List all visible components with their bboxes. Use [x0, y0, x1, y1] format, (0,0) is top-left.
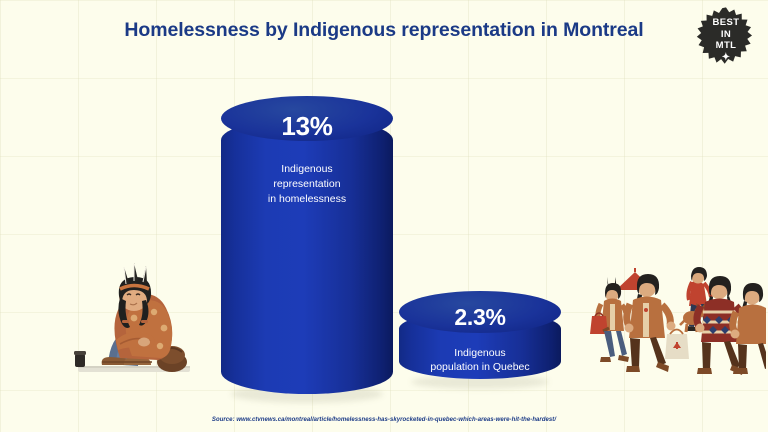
best-in-mtl-badge[interactable]: BEST IN MTL ✦ [692, 6, 760, 74]
cylinder-caption: Indigenous representation in homelessnes… [221, 162, 393, 207]
source-citation: Source: www.ctvnews.ca/montreal/article/… [0, 417, 768, 423]
cylinder-body [221, 118, 393, 394]
badge-line-2: IN [721, 29, 731, 41]
badge-symbol-icon: ✦ [722, 53, 731, 63]
cylinder-indigenous-population: 2.3% Indigenous population in Quebec [399, 291, 561, 383]
cylinder-percent-value: 13% [221, 111, 393, 142]
badge-text: BEST IN MTL ✦ [692, 6, 760, 74]
infographic-canvas: Homelessness by Indigenous representatio… [0, 0, 768, 432]
cylinder-indigenous-homelessness: 13% Indigenous representation in homeles… [221, 96, 393, 396]
walking-indigenous-group-illustration [588, 258, 766, 378]
badge-line-1: BEST [713, 17, 740, 29]
page-title: Homelessness by Indigenous representatio… [0, 19, 768, 42]
cylinder-caption: Indigenous population in Quebec [399, 346, 561, 374]
cylinder-percent-value: 2.3% [399, 304, 561, 331]
seated-indigenous-person-illustration [72, 262, 202, 384]
badge-line-3: MTL [716, 40, 737, 52]
